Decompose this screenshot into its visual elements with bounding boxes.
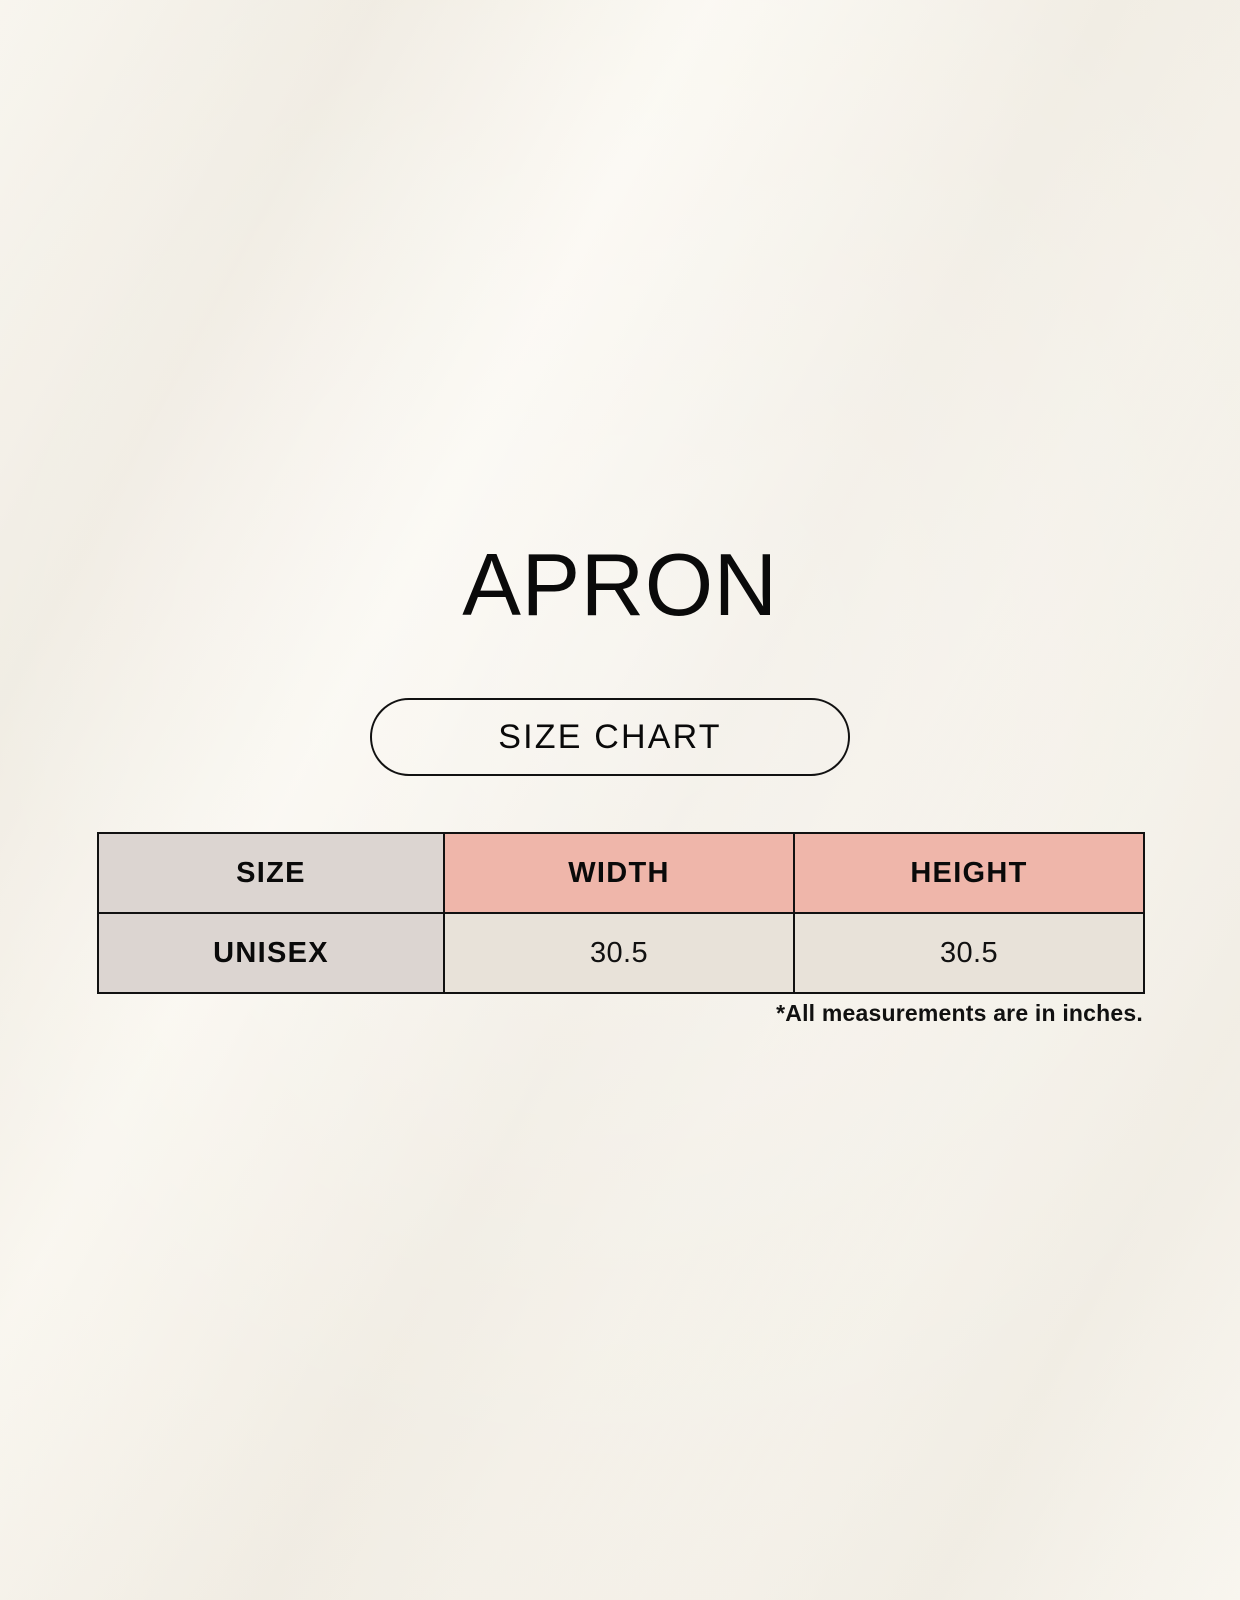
table-row: UNISEX 30.5 30.5	[98, 913, 1144, 993]
table-header-row: SIZE WIDTH HEIGHT	[98, 833, 1144, 913]
size-chart-table: SIZE WIDTH HEIGHT UNISEX 30.5 30.5	[97, 832, 1145, 994]
page-title: APRON	[0, 533, 1240, 637]
size-chart-canvas: APRON SIZE CHART SIZE WIDTH HEIGHT UNISE…	[0, 0, 1240, 1600]
cell-height-unisex: 30.5	[794, 913, 1144, 993]
size-chart-badge-label: SIZE CHART	[498, 718, 722, 757]
size-chart-badge: SIZE CHART	[370, 698, 850, 776]
column-header-size: SIZE	[98, 833, 444, 913]
measurement-units-note: *All measurements are in inches.	[97, 1000, 1143, 1027]
column-header-width: WIDTH	[444, 833, 794, 913]
column-header-height: HEIGHT	[794, 833, 1144, 913]
cell-size-unisex: UNISEX	[98, 913, 444, 993]
cell-width-unisex: 30.5	[444, 913, 794, 993]
